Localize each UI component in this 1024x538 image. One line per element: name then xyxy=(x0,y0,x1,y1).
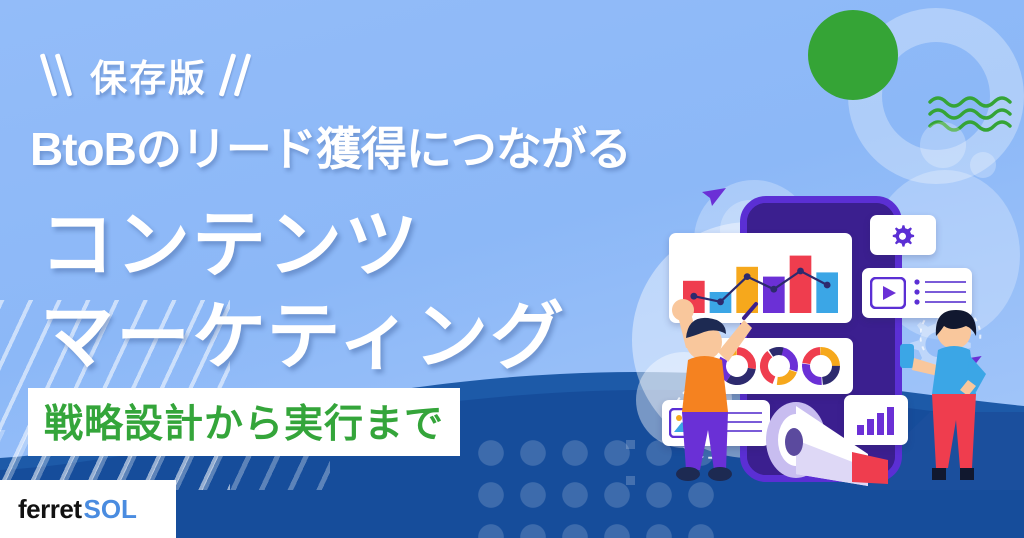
paper-plane-icon xyxy=(702,188,726,206)
logo-primary-text: ferret xyxy=(18,494,81,525)
hero-title-line-1: コンテンツ xyxy=(40,185,420,292)
brand-logo[interactable]: ferret SOL xyxy=(0,480,176,538)
hero-subtitle-box: 戦略設計から実行まで xyxy=(28,388,460,456)
person-left-illustration xyxy=(648,276,768,492)
blob-decoration xyxy=(970,152,996,178)
banner-canvas: 保存版 BtoBのリード獲得につながる コンテンツ マーケティング 戦略設計から… xyxy=(0,0,1024,538)
megaphone-icon xyxy=(760,398,890,494)
blob-decoration xyxy=(920,122,966,168)
content-marketing-illustration xyxy=(620,0,1024,538)
settings-card[interactable] xyxy=(870,215,936,255)
double-slash-left-icon xyxy=(42,53,76,97)
badge-row: 保存版 xyxy=(42,48,255,102)
double-slash-right-icon xyxy=(221,53,255,97)
square-decoration xyxy=(626,476,635,485)
hero-copy: 保存版 BtoBのリード獲得につながる コンテンツ マーケティング 戦略設計から… xyxy=(0,0,660,470)
hero-title-line-2: マーケティング xyxy=(40,277,566,384)
person-right-illustration xyxy=(896,300,1006,492)
hero-lead-line: BtoBのリード獲得につながる xyxy=(30,113,631,179)
badge-label: 保存版 xyxy=(90,48,207,102)
logo-secondary-text: SOL xyxy=(83,494,136,525)
hero-subtitle: 戦略設計から実行まで xyxy=(44,403,444,446)
gear-icon xyxy=(889,222,916,249)
square-decoration xyxy=(626,440,635,449)
